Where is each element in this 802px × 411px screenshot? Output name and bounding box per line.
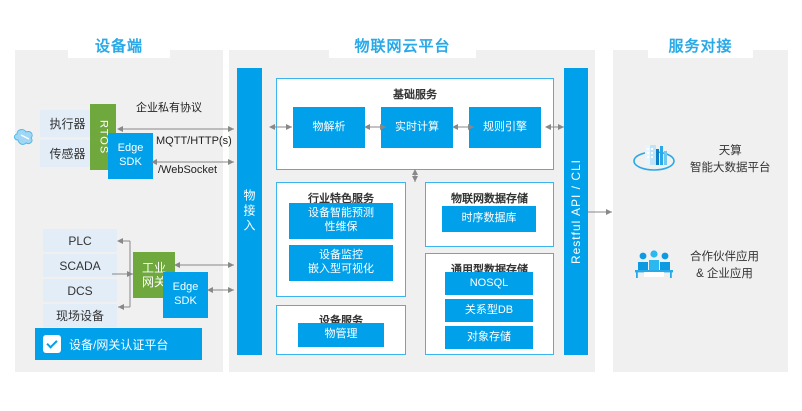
auth-platform-label: 设备/网关认证平台 [69, 336, 168, 353]
auth-platform-bar[interactable]: 设备/网关认证平台 [35, 328, 202, 360]
general-storage-item-object: 对象存储 [445, 326, 533, 349]
industry-service-item-predictive: 设备智能预测 性维保 [289, 203, 393, 239]
edge-sdk-top-box: Edge SDK [108, 133, 153, 179]
check-icon [43, 335, 61, 353]
service-entry-partners: 合作伙伴应用 & 企业应用 [632, 242, 782, 290]
base-service-title: 基础服务 [277, 86, 553, 102]
base-service-item-rules: 规则引擎 [469, 107, 541, 148]
endpoint-sensor: 传感器 [40, 140, 95, 167]
service-panel [613, 50, 788, 372]
platform-panel-title: 物联网云平台 [329, 32, 476, 58]
iot-storage-title: 物联网数据存储 [426, 190, 553, 206]
device-panel-title: 设备端 [68, 32, 170, 58]
industry-service-item-monitor: 设备监控 嵌入型可视化 [289, 245, 393, 281]
endpoint-actuator: 执行器 [40, 110, 95, 137]
partners-people-icon [632, 248, 676, 285]
source-plc: PLC [43, 229, 117, 252]
service-panel-title: 服务对接 [648, 32, 753, 58]
ingress-bar-label: 物接入 [241, 189, 258, 234]
source-field-device: 现场设备 [43, 304, 117, 327]
ingress-bar: 物接入 [237, 68, 262, 355]
restful-api-bar: Restful API / CLI [564, 68, 588, 355]
edge-sdk-bottom-box: Edge SDK [163, 272, 208, 318]
bigdata-building-icon [632, 141, 676, 180]
restful-api-bar-label: Restful API / CLI [569, 159, 583, 264]
iot-storage-item-tsdb: 时序数据库 [442, 206, 536, 232]
architecture-diagram: 设备端 物联网云平台 服务对接 [0, 0, 802, 411]
base-service-item-realtime: 实时计算 [381, 107, 453, 148]
base-service-item-parse: 物解析 [293, 107, 365, 148]
general-storage-item-nosql: NOSQL [445, 272, 533, 295]
source-dcs: DCS [43, 279, 117, 302]
protocol-mqtt-label: MQTT/HTTP(s) [156, 135, 232, 147]
device-service-item-thing-mgmt: 物管理 [298, 323, 384, 347]
source-scada: SCADA [43, 254, 117, 277]
protocol-private-label: 企业私有协议 [136, 99, 202, 115]
service-entry-partners-label: 合作伙伴应用 & 企业应用 [690, 249, 759, 282]
service-entry-bigdata-label: 天算 智能大数据平台 [690, 143, 771, 176]
cloud-icon [12, 126, 38, 148]
service-entry-bigdata: 天算 智能大数据平台 [632, 136, 782, 184]
general-storage-item-rdb: 关系型DB [445, 299, 533, 322]
protocol-websocket-label: /WebSocket [158, 164, 217, 176]
